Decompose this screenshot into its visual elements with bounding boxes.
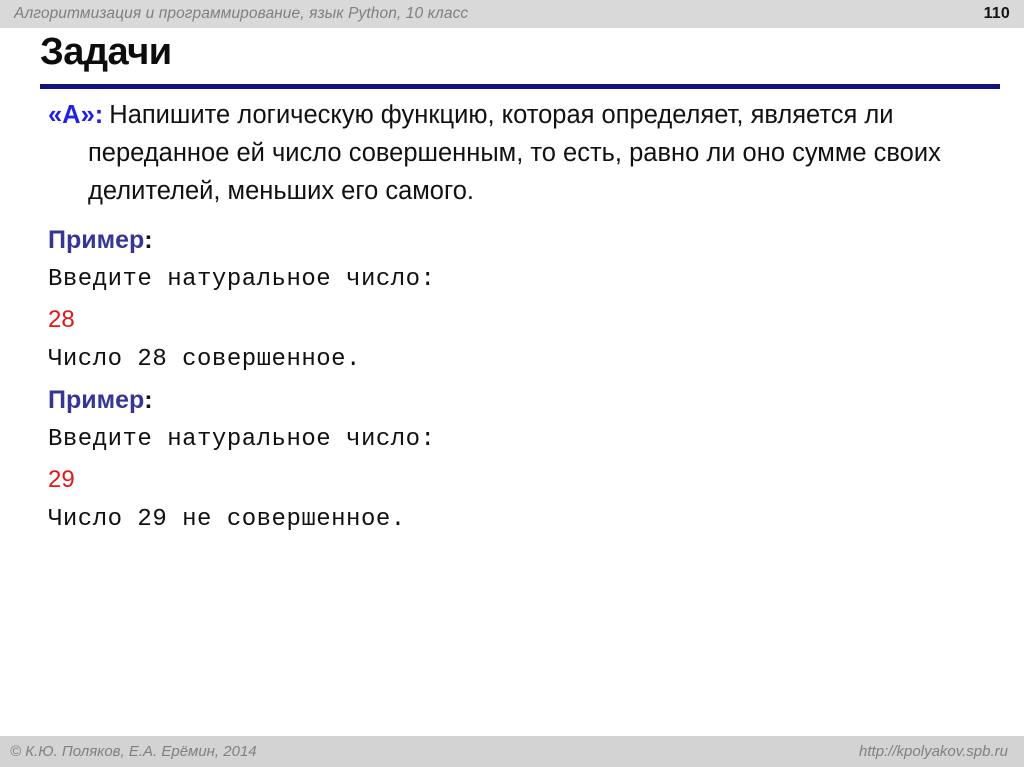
- example-output-1: Число 28 совершенное.: [48, 340, 1024, 380]
- page-title: Задачи: [40, 30, 172, 74]
- slide-header: Алгоритмизация и программирование, язык …: [0, 0, 1024, 28]
- task-text: Напишите логическую функцию, которая опр…: [88, 101, 941, 205]
- example-heading-2: Пример:: [48, 380, 1024, 420]
- course-title: Алгоритмизация и программирование, язык …: [14, 5, 468, 23]
- example-prompt-1: Введите натуральное число:: [48, 260, 1024, 300]
- task-label: «A»:: [48, 101, 103, 129]
- example-prompt-2: Введите натуральное число:: [48, 420, 1024, 460]
- example-block-2: Пример: Введите натуральное число: 29 Чи…: [48, 380, 1024, 540]
- example-input-2: 29: [48, 460, 1024, 500]
- slide-content: «A»:Напишите логическую функцию, которая…: [0, 96, 1024, 540]
- example-heading-label-1: Пример: [48, 226, 144, 254]
- task-paragraph: «A»:Напишите логическую функцию, которая…: [0, 96, 1024, 210]
- title-divider: [40, 84, 1000, 89]
- slide-footer: © К.Ю. Поляков, Е.А. Ерёмин, 2014 http:/…: [0, 736, 1024, 767]
- example-block-1: Пример: Введите натуральное число: 28 Чи…: [48, 220, 1024, 380]
- example-output-2: Число 29 не совершенное.: [48, 500, 1024, 540]
- page-number: 110: [984, 5, 1010, 23]
- example-heading-colon-1: :: [144, 226, 152, 254]
- footer-copyright: © К.Ю. Поляков, Е.А. Ерёмин, 2014: [10, 743, 257, 760]
- example-heading-1: Пример:: [48, 220, 1024, 260]
- example-heading-label-2: Пример: [48, 386, 144, 414]
- example-input-1: 28: [48, 300, 1024, 340]
- example-heading-colon-2: :: [144, 386, 152, 414]
- footer-url[interactable]: http://kpolyakov.spb.ru: [859, 743, 1008, 760]
- examples-list: Пример: Введите натуральное число: 28 Чи…: [0, 220, 1024, 540]
